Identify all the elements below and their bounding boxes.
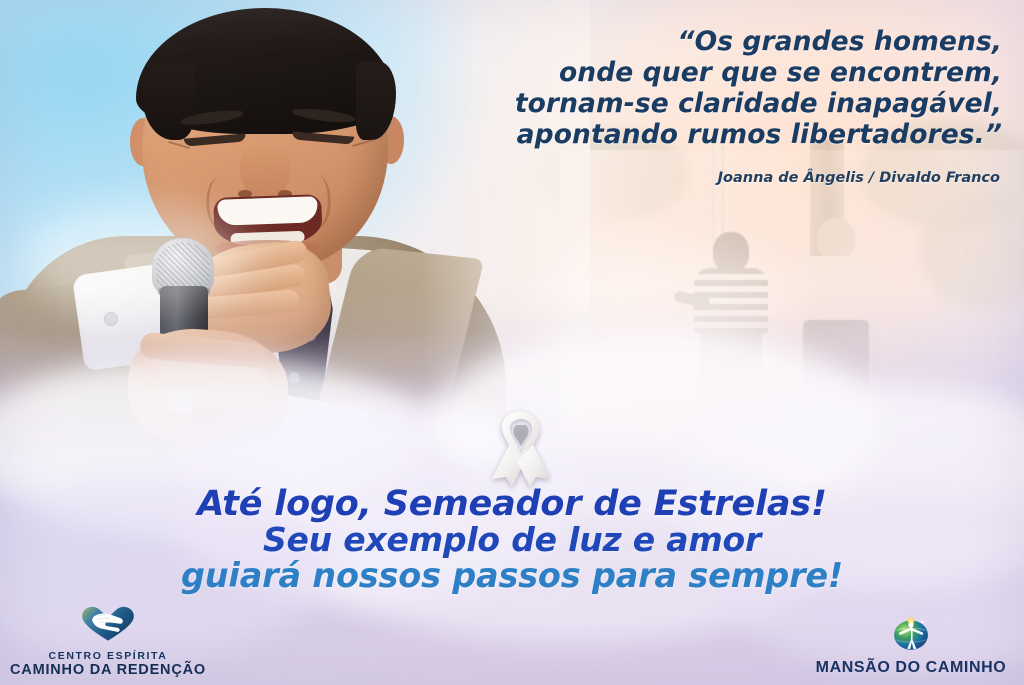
quote-line-2: onde quer que se encontrem, xyxy=(442,57,1002,88)
quote-line-1: “Os grandes homens, xyxy=(442,26,1002,57)
upper-teeth xyxy=(217,196,318,225)
headline-line-1: Até logo, Semeador de Estrelas! xyxy=(0,486,1024,522)
memorial-poster: “Os grandes homens, onde quer que se enc… xyxy=(0,0,1024,685)
white-mourning-ribbon-icon xyxy=(478,405,564,487)
quote-line-4: apontando rumos libertadores.” xyxy=(442,119,1002,150)
mansao-do-caminho-logo-block: MANSÃO DO CAMINHO xyxy=(806,612,1016,677)
headline-line-3: guiará nossos passos para sempre! xyxy=(0,558,1024,594)
tribute-quote: “Os grandes homens, onde quer que se enc… xyxy=(442,26,1002,150)
quote-attribution: Joanna de Ângelis / Divaldo Franco xyxy=(440,170,1000,186)
heart-with-hands-icon xyxy=(8,603,208,648)
headline-line-2: Seu exemplo de luz e amor xyxy=(0,522,1024,558)
centro-espirita-line-2: CAMINHO DA REDENÇÃO xyxy=(8,662,208,679)
globe-with-figure-icon xyxy=(806,612,1016,657)
centro-espirita-logo-block: CENTRO ESPÍRITA CAMINHO DA REDENÇÃO xyxy=(8,603,208,679)
tribute-headline: Até logo, Semeador de Estrelas! Seu exem… xyxy=(0,486,1024,594)
mansao-do-caminho-label: MANSÃO DO CAMINHO xyxy=(806,659,1016,677)
centro-espirita-line-1: CENTRO ESPÍRITA xyxy=(8,650,208,662)
quote-line-3: tornam-se claridade inapagável, xyxy=(442,88,1002,119)
cloud xyxy=(20,206,245,316)
